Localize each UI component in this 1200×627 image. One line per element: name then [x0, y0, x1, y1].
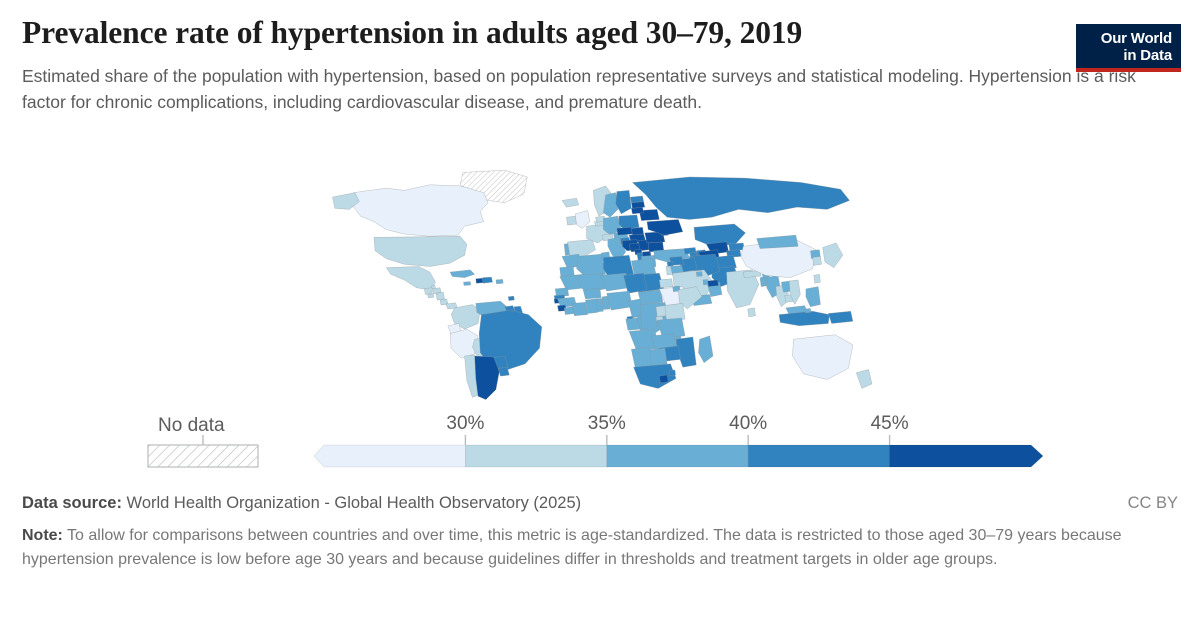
country-el-salvador[interactable] [428, 294, 434, 298]
legend-tick-label-2: 35% [588, 413, 626, 434]
country-trinidad[interactable] [508, 296, 514, 300]
country-new-zealand[interactable] [856, 369, 872, 388]
country-nicaragua[interactable] [436, 292, 444, 300]
legend-bin-group[interactable] [314, 445, 1043, 467]
country-japan[interactable] [823, 243, 843, 268]
legend-bin-5[interactable] [890, 445, 1043, 467]
country-taiwan[interactable] [814, 274, 821, 283]
country-united-arab-emirates[interactable] [707, 280, 718, 287]
data-source-text: Data source: World Health Organization -… [22, 492, 581, 514]
country-argentina[interactable] [475, 356, 500, 400]
our-world-in-data-logo[interactable]: Our World in Data [1076, 24, 1181, 72]
legend-no-data-label: No data [158, 415, 225, 436]
map-svg[interactable] [320, 168, 880, 403]
country-lesotho[interactable] [659, 375, 668, 383]
country-kuwait[interactable] [696, 272, 702, 277]
map-legend: No data 30%35%40%45% [0, 405, 1200, 475]
data-source-label: Data source: [22, 494, 122, 512]
world-choropleth-map[interactable] [0, 168, 1200, 403]
country-slovakia[interactable] [631, 227, 643, 235]
country-czechia[interactable] [617, 227, 633, 235]
country-cuba[interactable] [450, 270, 475, 278]
country-puerto-rico[interactable] [496, 279, 503, 283]
logo-line-1: Our World [1101, 30, 1172, 47]
note-label: Note: [22, 527, 63, 544]
country-indonesia[interactable] [779, 311, 829, 326]
legend-svg[interactable]: No data 30%35%40%45% [140, 405, 1060, 475]
country-western-sahara[interactable] [560, 266, 575, 276]
chart-subtitle: Estimated share of the population with h… [22, 64, 1172, 115]
country-south-korea[interactable] [813, 256, 822, 265]
country-mexico[interactable] [386, 266, 435, 290]
country-ghana[interactable] [585, 299, 597, 314]
country-eswatini[interactable] [669, 370, 675, 376]
logo-line-2: in Data [1123, 47, 1172, 64]
country-spain[interactable] [568, 240, 596, 257]
country-philippines[interactable] [806, 287, 821, 307]
country-mongolia[interactable] [757, 235, 798, 248]
country-central-african-republic[interactable] [638, 290, 663, 305]
country-finland[interactable] [616, 190, 632, 214]
legend-tick-label-4: 45% [871, 413, 909, 434]
page-title: Prevalence rate of hypertension in adult… [22, 14, 1178, 52]
country-ireland[interactable] [566, 216, 576, 225]
legend-tick-label-3: 40% [729, 413, 767, 434]
country-togo[interactable] [597, 298, 604, 311]
country-south-africa[interactable] [634, 364, 677, 389]
legend-bin-2[interactable] [465, 445, 606, 467]
country-united-states[interactable] [374, 236, 467, 266]
country-iceland[interactable] [562, 198, 579, 207]
legend-bin-1[interactable] [314, 445, 465, 467]
country-guatemala[interactable] [424, 288, 432, 295]
country-ivory-coast[interactable] [572, 302, 588, 315]
legend-tick-label-group: 30%35%40%45% [446, 413, 908, 434]
country-dominican-republic[interactable] [483, 277, 493, 283]
country-qatar[interactable] [703, 279, 708, 285]
country-haiti[interactable] [476, 278, 483, 283]
country-papua-new-guinea[interactable] [828, 311, 853, 323]
data-source-row: Data source: World Health Organization -… [22, 492, 1178, 514]
country-nigeria[interactable] [607, 291, 633, 310]
country-united-kingdom[interactable] [575, 211, 590, 229]
country-estonia[interactable] [630, 196, 643, 203]
legend-no-data-swatch[interactable] [148, 445, 258, 467]
country-brunei[interactable] [805, 308, 811, 312]
country-russia[interactable] [632, 177, 849, 220]
chart-note: Note: To allow for comparisons between c… [22, 524, 1162, 572]
legend-tick-group [465, 435, 889, 445]
country-canada[interactable] [353, 185, 488, 236]
country-eritrea[interactable] [659, 279, 672, 288]
country-sri-lanka[interactable] [748, 308, 756, 317]
country-lebanon[interactable] [667, 261, 673, 266]
legend-tick-label-1: 30% [446, 413, 484, 434]
country-australia[interactable] [792, 335, 852, 380]
country-chad[interactable] [624, 273, 648, 293]
data-source-value: World Health Organization - Global Healt… [127, 494, 582, 512]
chart-footer: Data source: World Health Organization -… [22, 492, 1178, 572]
chart-header: Prevalence rate of hypertension in adult… [22, 14, 1178, 115]
note-text: To allow for comparisons between countri… [22, 527, 1122, 568]
country-madagascar[interactable] [698, 336, 713, 363]
country-sweden[interactable] [603, 193, 618, 218]
country-jamaica[interactable] [463, 282, 470, 286]
owid-chart-page: Prevalence rate of hypertension in adult… [0, 0, 1200, 627]
legend-bin-3[interactable] [607, 445, 748, 467]
logo-accent-bar [1076, 68, 1181, 72]
country-uganda[interactable] [656, 306, 666, 317]
country-burkina-faso[interactable] [583, 288, 601, 299]
legend-bin-4[interactable] [748, 445, 889, 467]
country-kyrgyzstan[interactable] [729, 243, 745, 251]
license-label[interactable]: CC BY [1128, 492, 1178, 514]
